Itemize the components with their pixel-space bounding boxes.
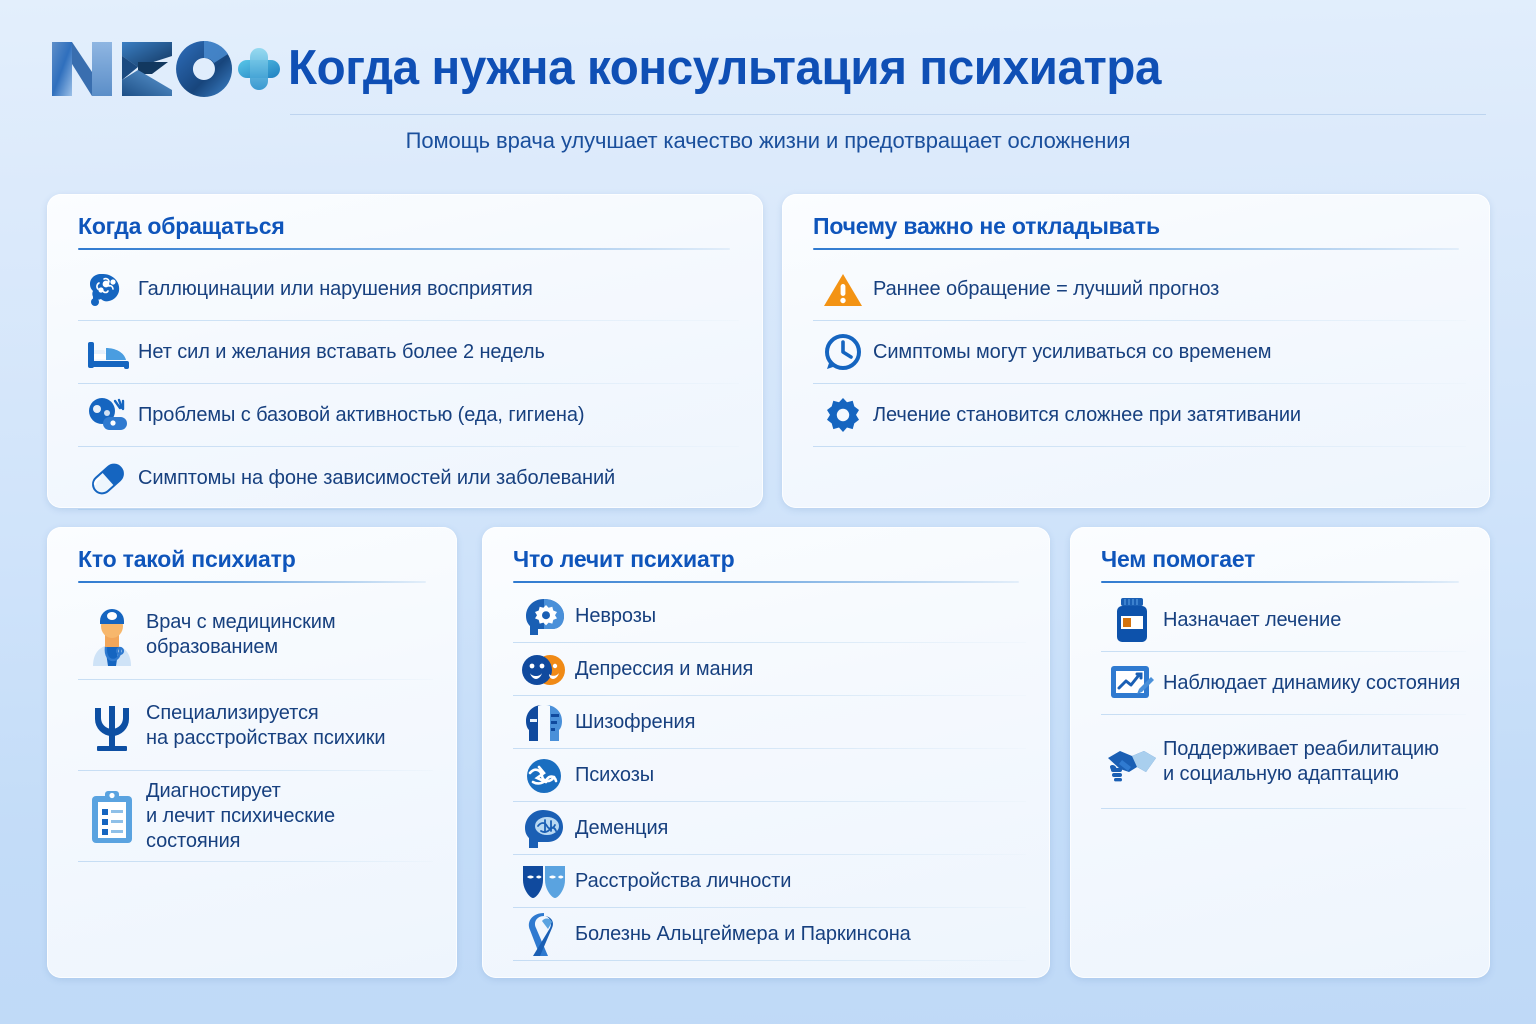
list-item[interactable]: Назначает лечение <box>1101 589 1466 652</box>
head-brain-icon <box>513 807 575 851</box>
card-why-not-delay: Почему важно не откладывать Раннее обращ… <box>782 194 1490 508</box>
card-what-psychiatrist-treats: Что лечит психиатр Неврозы <box>482 527 1050 978</box>
list-item[interactable]: Депрессия и мания <box>513 643 1026 696</box>
card-title: Чем помогает <box>1101 546 1255 573</box>
list-item-label: Шизофрения <box>575 710 695 735</box>
two-faces-icon <box>513 652 575 688</box>
list-item-label: Диагностирует и лечит психические состоя… <box>146 779 433 853</box>
list-item[interactable]: Раннее обращение = лучший прогноз <box>813 258 1466 321</box>
card-who-is-psychiatrist: Кто такой психиатр Врач с медицинским <box>47 527 457 978</box>
list-item-label: Неврозы <box>575 604 656 629</box>
list-item-label: Поддерживает реабилитацию и социальную а… <box>1163 737 1439 787</box>
row-divider <box>78 509 739 510</box>
card-items: Назначает лечение Наблюдает динамику сос… <box>1101 589 1466 809</box>
card-title-divider <box>513 581 1019 583</box>
list-item[interactable]: Специализируется на расстройствах психик… <box>78 680 433 771</box>
list-item[interactable]: Шизофрения <box>513 696 1026 749</box>
list-item-label: Психозы <box>575 763 654 788</box>
list-item[interactable]: Симптомы на фоне зависимостей или заболе… <box>78 447 739 510</box>
list-item-label: Симптомы могут усиливаться со временем <box>873 340 1271 365</box>
page-header: Когда нужна консультация психиатра Помощ… <box>0 0 1536 176</box>
list-item-label: Депрессия и мания <box>575 657 753 682</box>
head-gear-icon <box>513 595 575 639</box>
meal-icon <box>78 397 138 435</box>
list-item-label: Галлюцинации или нарушения восприятия <box>138 277 533 302</box>
list-item[interactable]: Лечение становится сложнее при затятиван… <box>813 384 1466 447</box>
list-item-label: Симптомы на фоне зависимостей или заболе… <box>138 466 615 491</box>
brain-icon <box>78 271 138 309</box>
ribbon-icon <box>513 912 575 958</box>
list-item[interactable]: Проблемы с базовой активностью (еда, гиг… <box>78 384 739 447</box>
card-items: Неврозы Депрессия и мания <box>513 590 1026 961</box>
theater-masks-icon <box>513 864 575 900</box>
page-title: Когда нужна консультация психиатра <box>288 40 1161 96</box>
warning-triangle-icon <box>813 272 873 308</box>
doctor-icon <box>78 604 146 666</box>
card-when-to-seek-help: Когда обращаться Галлюцинации или наруше… <box>47 194 763 508</box>
chart-board-icon <box>1101 663 1163 705</box>
list-item-label: Нет сил и желания вставать более 2 недел… <box>138 340 545 365</box>
list-item-label: Специализируется на расстройствах психик… <box>146 701 386 751</box>
row-divider <box>513 960 1026 961</box>
list-item-label: Деменция <box>575 816 668 841</box>
tangled-mind-icon <box>513 756 575 796</box>
row-divider <box>813 446 1466 447</box>
card-title-divider <box>1101 581 1459 583</box>
card-title-divider <box>813 248 1459 250</box>
card-title: Что лечит психиатр <box>513 546 735 573</box>
card-how-it-helps: Чем помогает Назначает лечение <box>1070 527 1490 978</box>
list-item[interactable]: Галлюцинации или нарушения восприятия <box>78 258 739 321</box>
gear-icon <box>813 397 873 435</box>
card-items: Врач с медицинским образованием Специали… <box>78 589 433 862</box>
list-item[interactable]: Нет сил и желания вставать более 2 недел… <box>78 321 739 384</box>
clipboard-icon <box>78 790 146 844</box>
list-item-label: Болезнь Альцгеймера и Паркинсона <box>575 922 911 947</box>
card-items: Раннее обращение = лучший прогноз Симпто… <box>813 258 1466 447</box>
list-item-label: Врач с медицинским образованием <box>146 610 336 660</box>
card-title-divider <box>78 248 730 250</box>
clock-icon <box>813 333 873 373</box>
list-item[interactable]: Врач с медицинским образованием <box>78 589 433 680</box>
list-item-label: Расстройства личности <box>575 869 791 894</box>
list-item-label: Назначает лечение <box>1163 608 1341 633</box>
header-divider <box>290 114 1486 115</box>
list-item[interactable]: Диагностирует и лечит психические состоя… <box>78 771 433 862</box>
pill-icon <box>78 458 138 500</box>
list-item-label: Наблюдает динамику состояния <box>1163 671 1460 696</box>
card-title: Почему важно не откладывать <box>813 213 1160 240</box>
row-divider <box>1101 808 1466 809</box>
page-subtitle: Помощь врача улучшает качество жизни и п… <box>0 128 1536 154</box>
neo-plus-logo <box>48 34 280 104</box>
list-item[interactable]: Неврозы <box>513 590 1026 643</box>
row-divider <box>78 861 433 862</box>
list-item-label: Проблемы с базовой активностью (еда, гиг… <box>138 403 584 428</box>
list-item[interactable]: Психозы <box>513 749 1026 802</box>
bed-icon <box>78 336 138 370</box>
split-head-icon <box>513 702 575 744</box>
medicine-bottle-icon <box>1101 596 1163 646</box>
card-title: Кто такой психиатр <box>78 546 296 573</box>
list-item[interactable]: Поддерживает реабилитацию и социальную а… <box>1101 715 1466 809</box>
list-item[interactable]: Деменция <box>513 802 1026 855</box>
list-item-label: Раннее обращение = лучший прогноз <box>873 277 1219 302</box>
psi-icon <box>78 700 146 752</box>
list-item[interactable]: Симптомы могут усиливаться со временем <box>813 321 1466 384</box>
list-item-label: Лечение становится сложнее при затятиван… <box>873 403 1301 428</box>
handshake-icon <box>1101 742 1163 782</box>
card-items: Галлюцинации или нарушения восприятия Не… <box>78 258 739 510</box>
list-item[interactable]: Расстройства личности <box>513 855 1026 908</box>
card-title-divider <box>78 581 426 583</box>
card-title: Когда обращаться <box>78 213 285 240</box>
list-item[interactable]: Болезнь Альцгеймера и Паркинсона <box>513 908 1026 961</box>
list-item[interactable]: Наблюдает динамику состояния <box>1101 652 1466 715</box>
